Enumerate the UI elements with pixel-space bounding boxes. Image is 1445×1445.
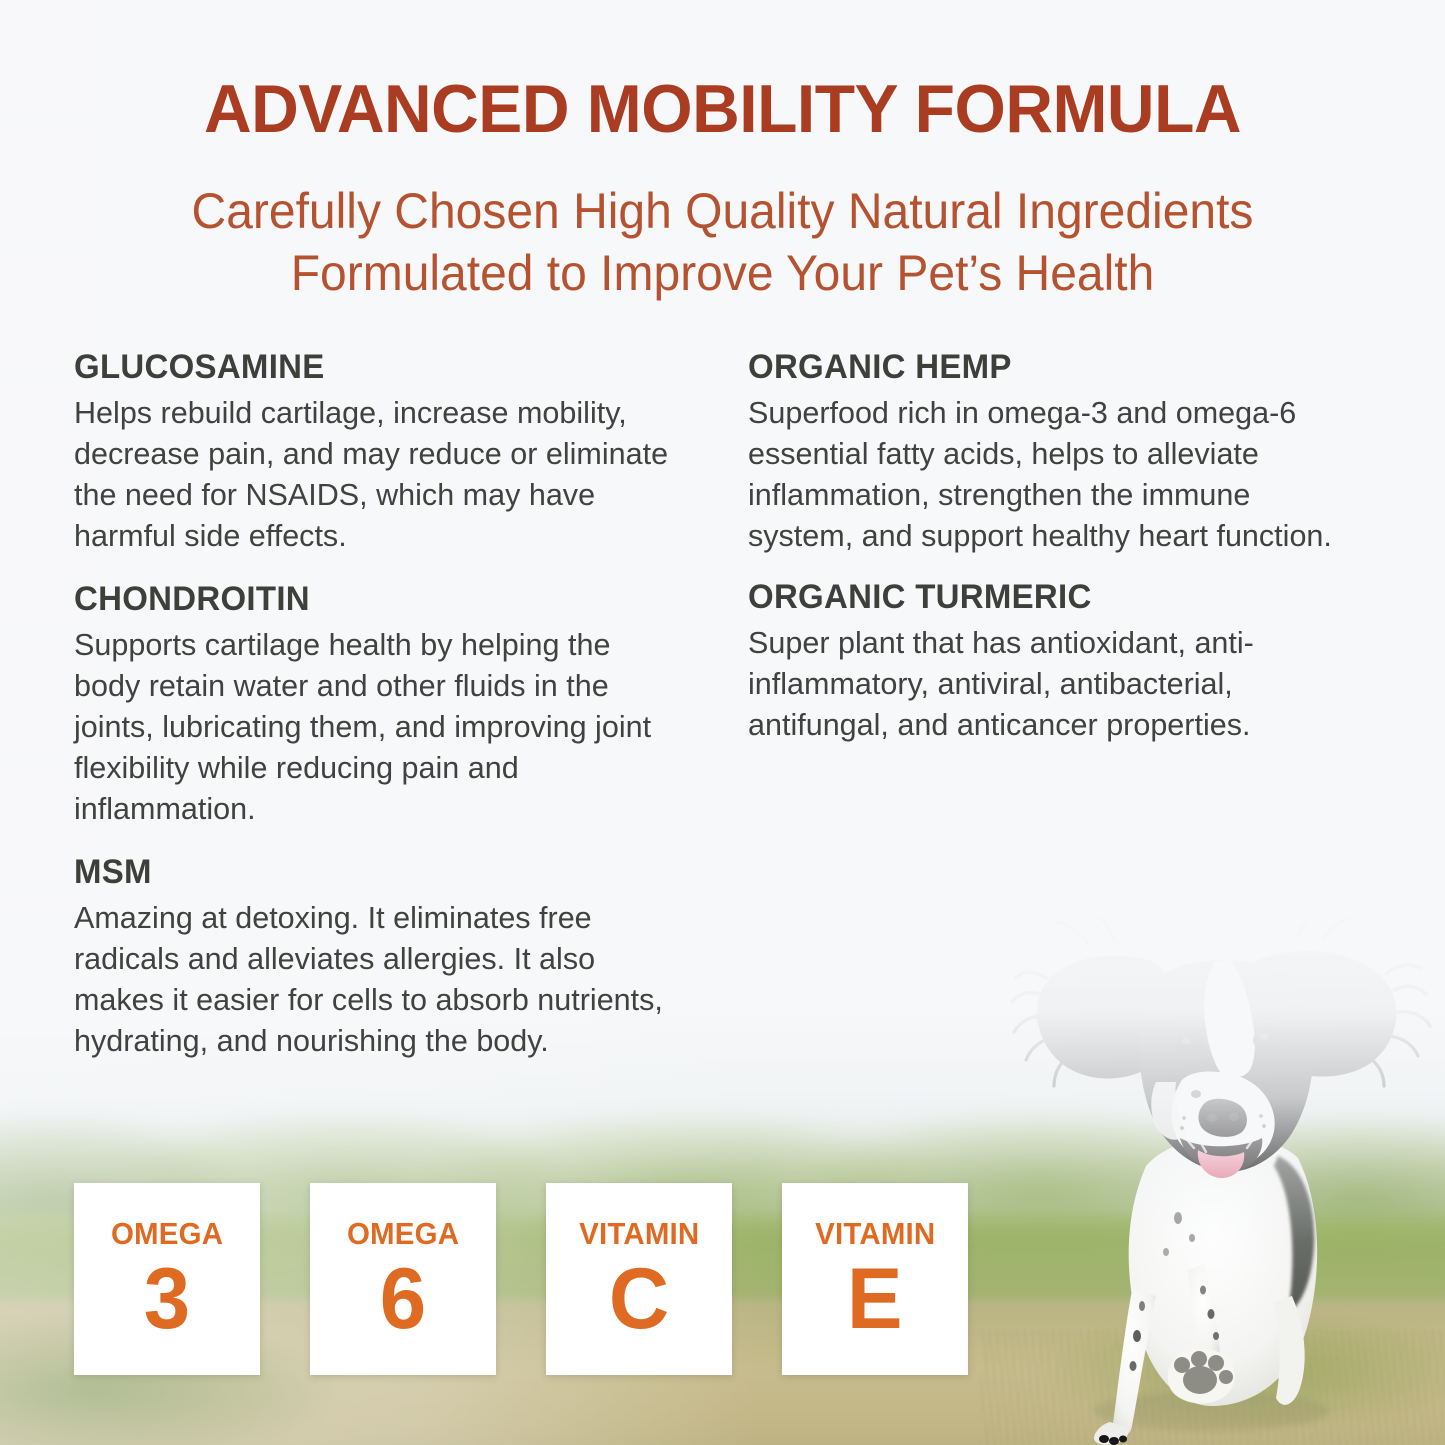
ingredient-description-glucosamine: Helps rebuild cartilage, increase mobili…: [74, 392, 677, 556]
ingredient-description-chondroitin: Supports cartilage health by helping the…: [74, 624, 677, 829]
ingredient-description-msm: Amazing at detoxing. It eliminates free …: [74, 897, 677, 1061]
ingredient-glucosamine: GLUCOSAMINE Helps rebuild cartilage, inc…: [74, 346, 686, 556]
badge-value-omega-6: 6: [380, 1253, 426, 1345]
badge-vitamin-e: VITAMIN E: [782, 1183, 968, 1375]
ingredient-title-organic-turmeric: ORGANIC TURMERIC: [748, 576, 1342, 618]
badge-value-vitamin-e: E: [847, 1253, 903, 1345]
ingredient-title-msm: MSM: [74, 851, 668, 893]
badge-label-omega-3: OMEGA: [111, 1217, 223, 1251]
ingredient-title-glucosamine: GLUCOSAMINE: [74, 346, 668, 388]
badge-label-vitamin-e: VITAMIN: [815, 1217, 935, 1251]
ingredients-column-right: ORGANIC HEMP Superfood rich in omega-3 a…: [748, 346, 1360, 745]
product-infographic: ADVANCED MOBILITY FORMULA Carefully Chos…: [0, 0, 1445, 1445]
badge-label-vitamin-c: VITAMIN: [579, 1217, 699, 1251]
ingredient-organic-turmeric: ORGANIC TURMERIC Super plant that has an…: [748, 576, 1360, 745]
ingredient-organic-hemp: ORGANIC HEMP Superfood rich in omega-3 a…: [748, 346, 1360, 556]
badge-omega-6: OMEGA 6: [310, 1183, 496, 1375]
subtitle-line-1: Carefully Chosen High Quality Natural In…: [29, 180, 1416, 242]
infographic-content: ADVANCED MOBILITY FORMULA Carefully Chos…: [0, 0, 1445, 1445]
badge-label-omega-6: OMEGA: [347, 1217, 459, 1251]
badge-omega-3: OMEGA 3: [74, 1183, 260, 1375]
ingredient-msm: MSM Amazing at detoxing. It eliminates f…: [74, 851, 686, 1061]
subtitle-line-2: Formulated to Improve Your Pet’s Health: [29, 242, 1416, 304]
ingredient-chondroitin: CHONDROITIN Supports cartilage health by…: [74, 578, 686, 829]
ingredient-title-chondroitin: CHONDROITIN: [74, 578, 668, 620]
nutrient-badge-row: OMEGA 3 OMEGA 6 VITAMIN C VITAMIN E: [74, 1183, 968, 1375]
ingredient-description-organic-hemp: Superfood rich in omega-3 and omega-6 es…: [748, 392, 1351, 556]
ingredient-description-organic-turmeric: Super plant that has antioxidant, anti-i…: [748, 622, 1351, 745]
page-title: ADVANCED MOBILITY FORMULA: [22, 72, 1424, 146]
badge-vitamin-c: VITAMIN C: [546, 1183, 732, 1375]
ingredient-title-organic-hemp: ORGANIC HEMP: [748, 346, 1342, 388]
badge-value-vitamin-c: C: [609, 1253, 669, 1345]
ingredients-column-left: GLUCOSAMINE Helps rebuild cartilage, inc…: [74, 346, 686, 1061]
badge-value-omega-3: 3: [144, 1253, 190, 1345]
page-subtitle: Carefully Chosen High Quality Natural In…: [29, 180, 1416, 304]
